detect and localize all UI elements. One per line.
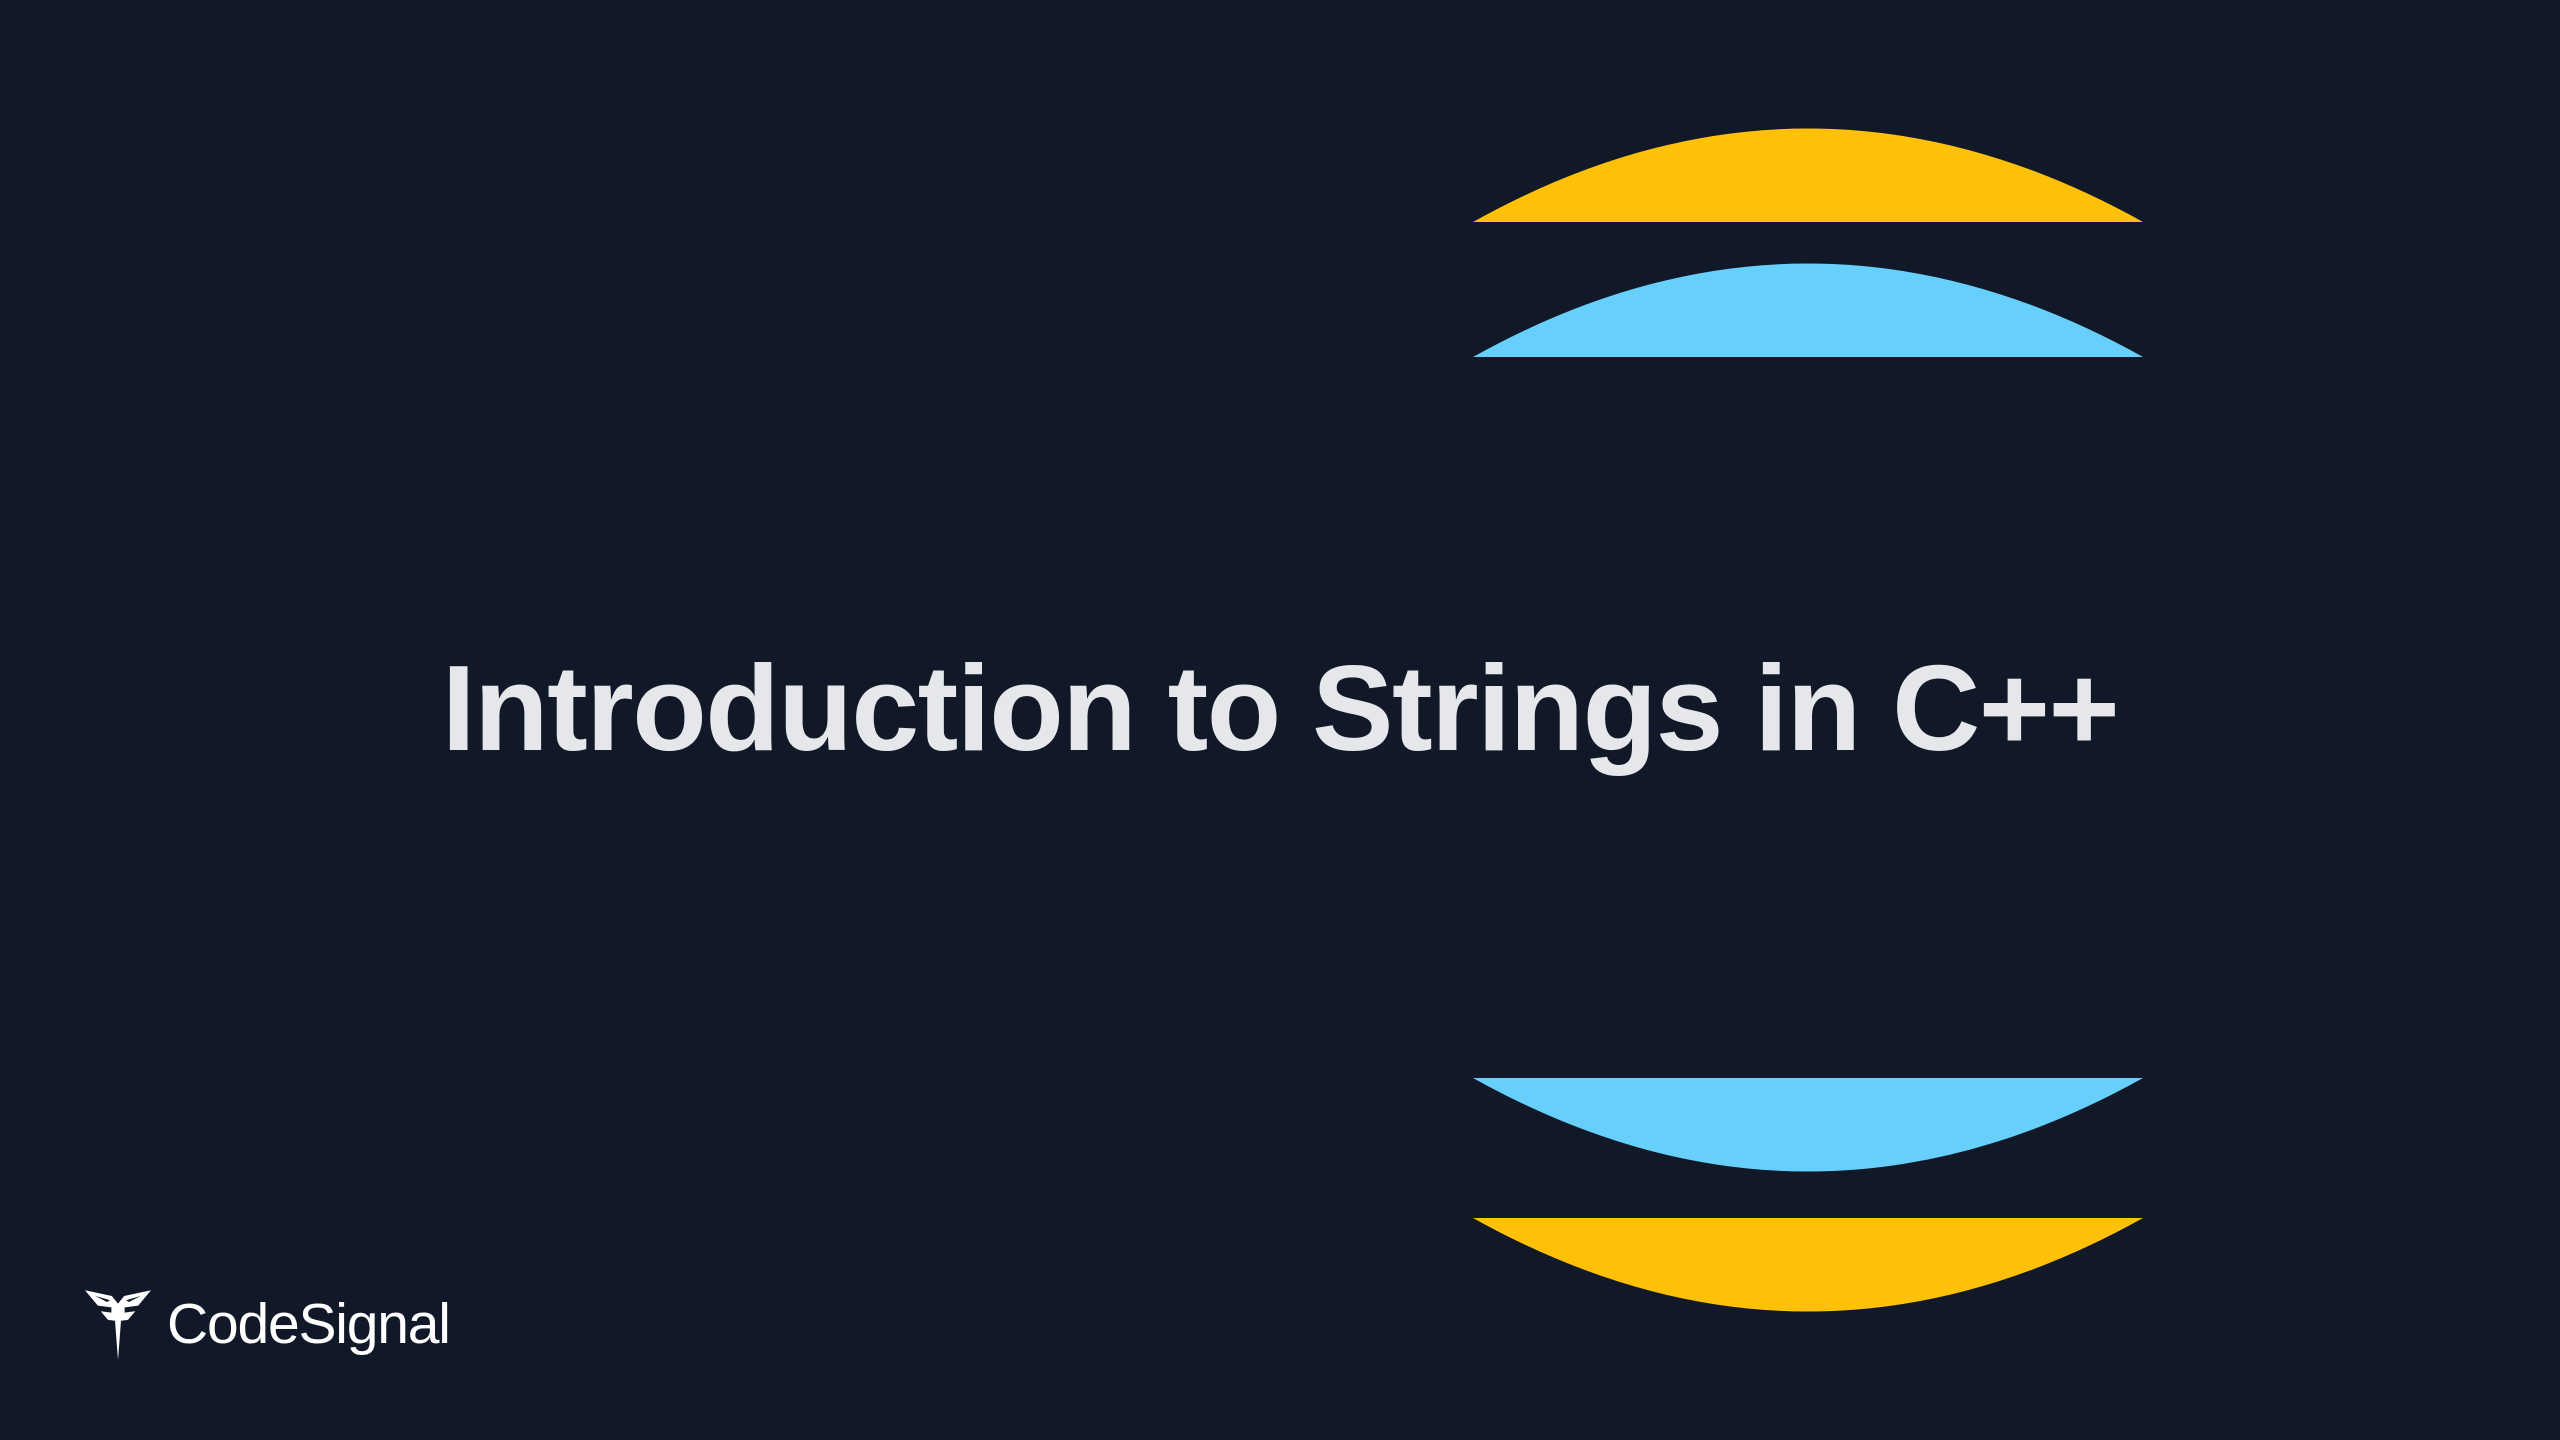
blue-dome-shape xyxy=(1473,264,2143,358)
slide-background xyxy=(0,0,2560,1440)
yellow-dome-shape xyxy=(1473,129,2143,223)
codesignal-logo: CodeSignal xyxy=(85,1288,450,1360)
logo-wordmark: CodeSignal xyxy=(167,1296,450,1353)
codesignal-wings-mark xyxy=(85,1288,151,1360)
blue-bowl-shape xyxy=(1473,1078,2143,1172)
bottom-decoration-cluster xyxy=(1473,1078,2143,1358)
yellow-bowl-shape xyxy=(1473,1218,2143,1312)
slide-canvas: Introduction to Strings in C++ CodeSigna… xyxy=(0,0,2560,1440)
top-decoration-cluster xyxy=(1473,82,2143,357)
